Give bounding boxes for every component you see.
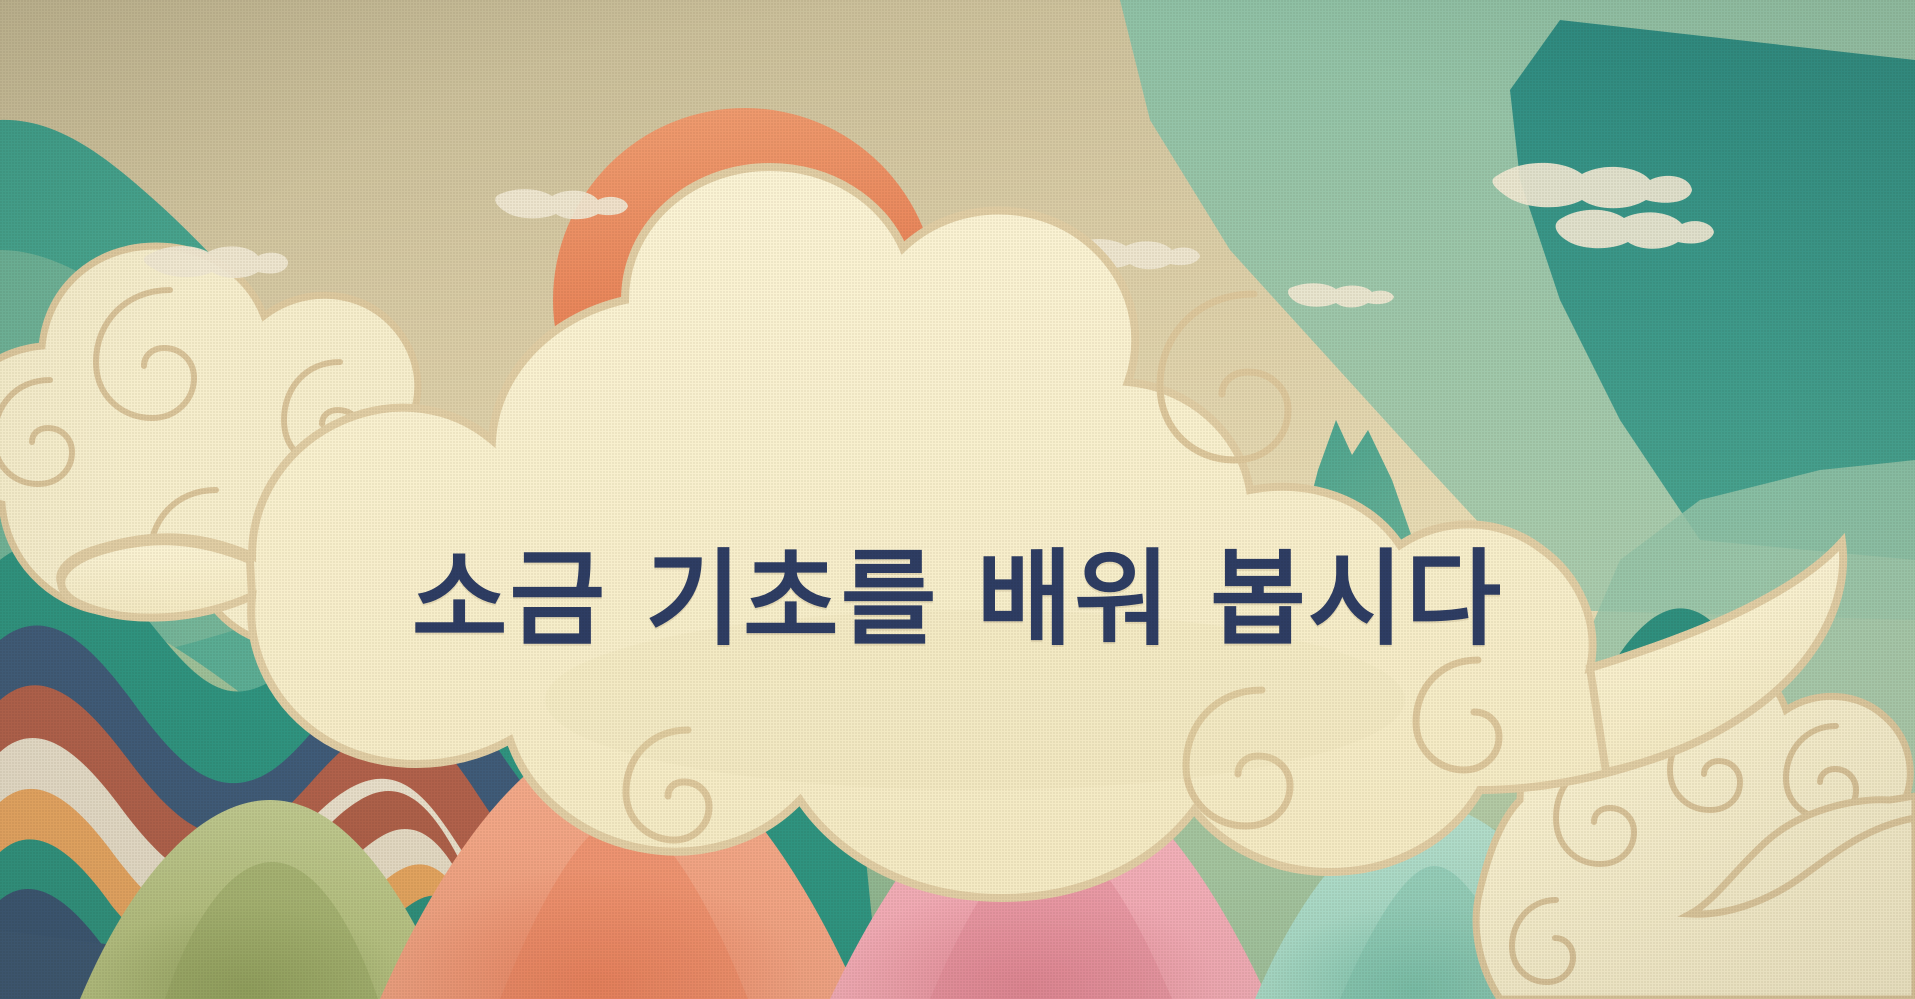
banner-inner-shade bbox=[545, 610, 1405, 790]
illustration-artwork bbox=[0, 0, 1915, 999]
scroll-cloud-left-tail bbox=[61, 541, 252, 617]
title-card-canvas: 소금 기초를 배워 봅시다 bbox=[0, 0, 1915, 999]
